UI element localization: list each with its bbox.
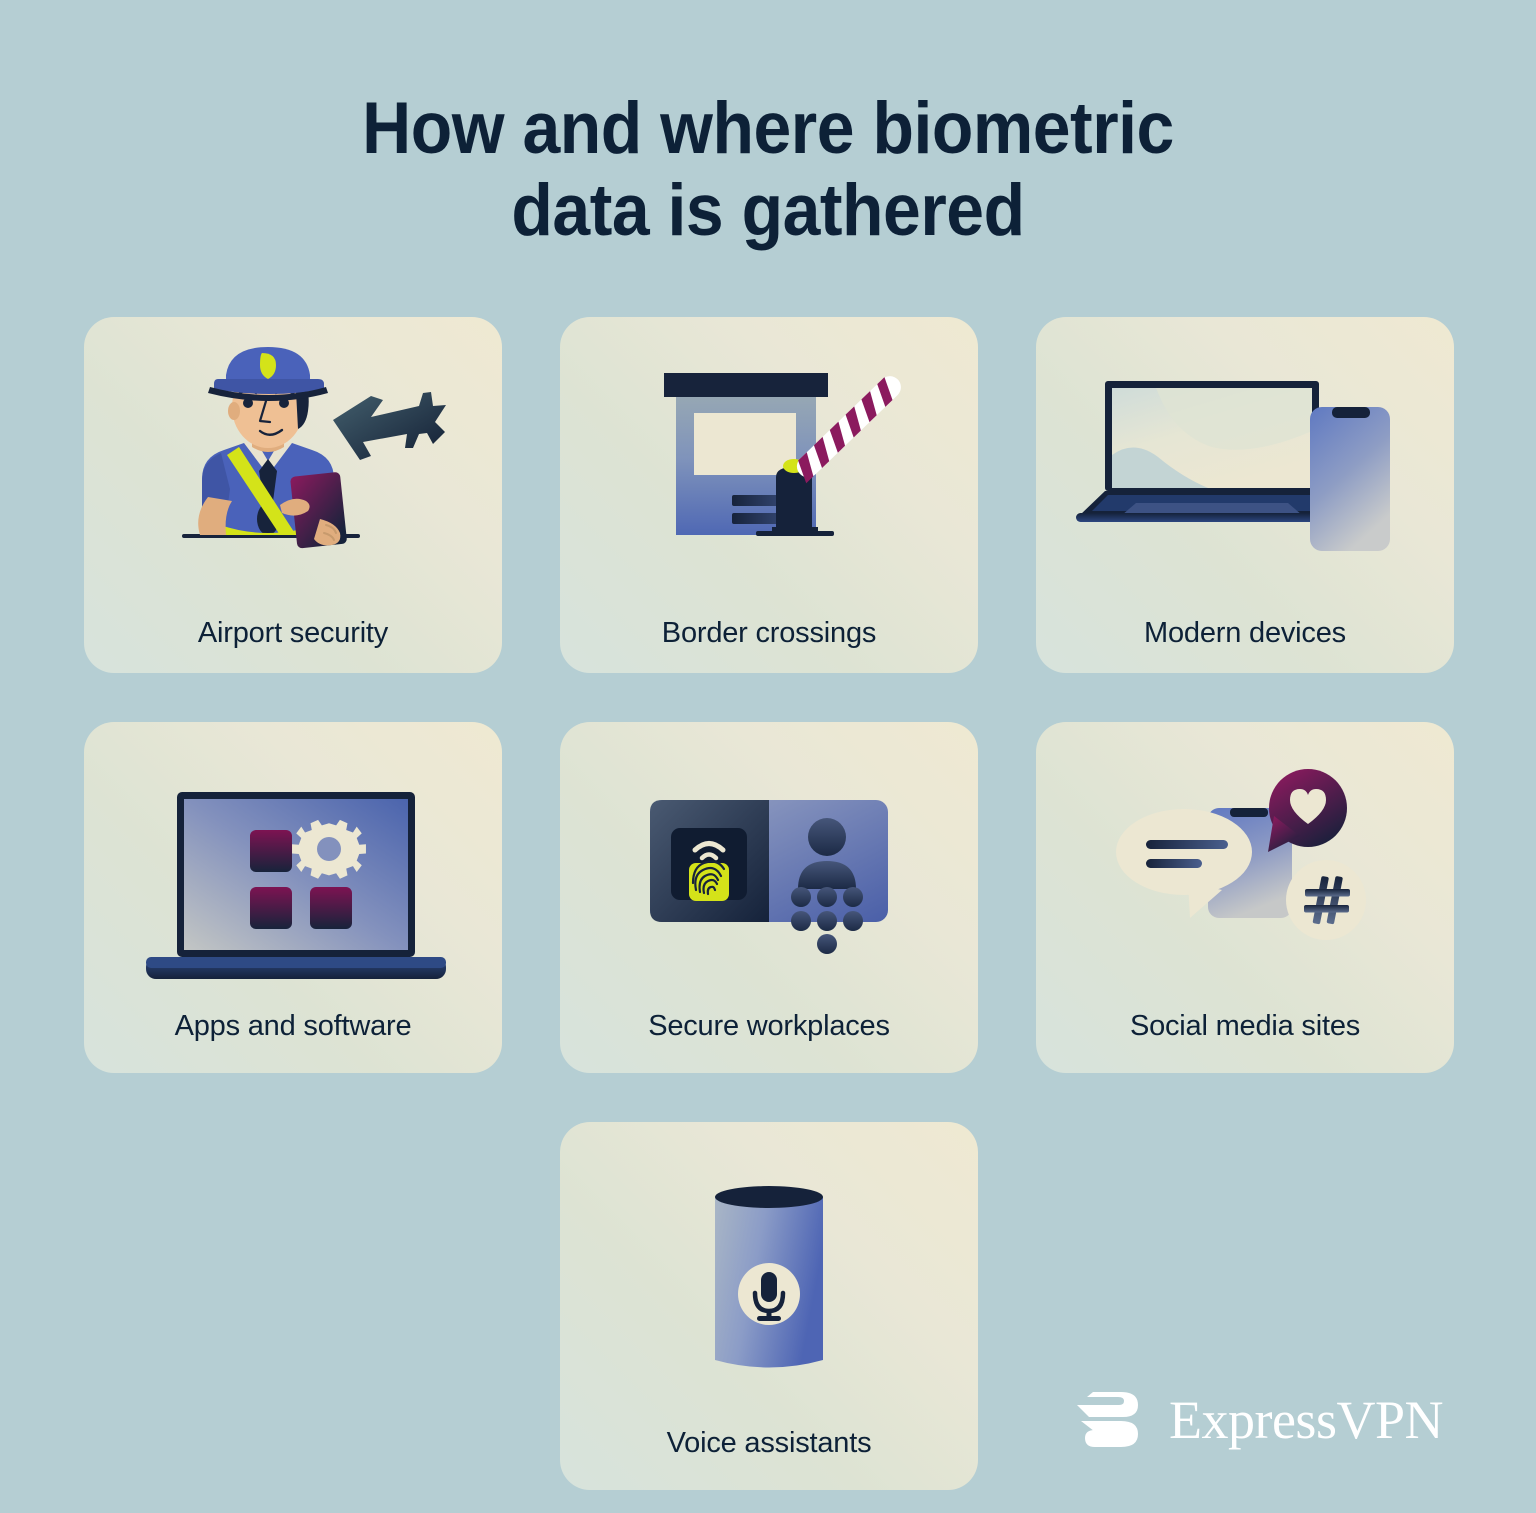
card-phone-chat-heart-hashtag[interactable]: Social media sites	[1036, 722, 1454, 1073]
card-apps-and-software[interactable]: Apps and software	[84, 722, 502, 1073]
infographic-page: How and where biometric data is gathered	[0, 0, 1536, 1513]
card-label: Border crossings	[560, 617, 978, 650]
card-airport-security[interactable]: Airport security	[84, 317, 502, 673]
expressvpn-logo: ExpressVPN	[1075, 1383, 1435, 1457]
card-border-crossings[interactable]: Border crossings	[560, 317, 978, 673]
card-label: Secure workplaces	[560, 1010, 978, 1043]
card-label: Apps and software	[84, 1010, 502, 1043]
page-title: How and where biometric data is gathered	[54, 88, 1482, 253]
card-label: Airport security	[84, 617, 502, 650]
fingerprint-access-panel-icon	[560, 752, 978, 1002]
brand-name: ExpressVPN	[1169, 1393, 1443, 1447]
laptop-phone-icon	[1036, 329, 1454, 599]
card-secure-workplaces[interactable]: Secure workplaces	[560, 722, 978, 1073]
police-officer-airplane-icon	[84, 329, 502, 599]
smart-speaker-microphone-icon	[560, 1167, 978, 1427]
phone-chat-heart-hashtag-icon	[1036, 752, 1454, 1002]
card-modern-devices[interactable]: Modern devices	[1036, 317, 1454, 673]
card-label: Modern devices	[1036, 617, 1454, 650]
card-label: Social media sites	[1036, 1010, 1454, 1043]
expressvpn-logo-icon	[1075, 1389, 1147, 1451]
border-booth-barrier-icon	[560, 329, 978, 599]
card-label: Voice assistants	[560, 1427, 978, 1460]
card-voice-assistants[interactable]: Voice assistants	[560, 1122, 978, 1490]
laptop-app-tiles-gear-icon	[84, 752, 502, 1002]
title-line-1: How and where biometric	[362, 88, 1174, 169]
title-line-2: data is gathered	[511, 170, 1024, 251]
